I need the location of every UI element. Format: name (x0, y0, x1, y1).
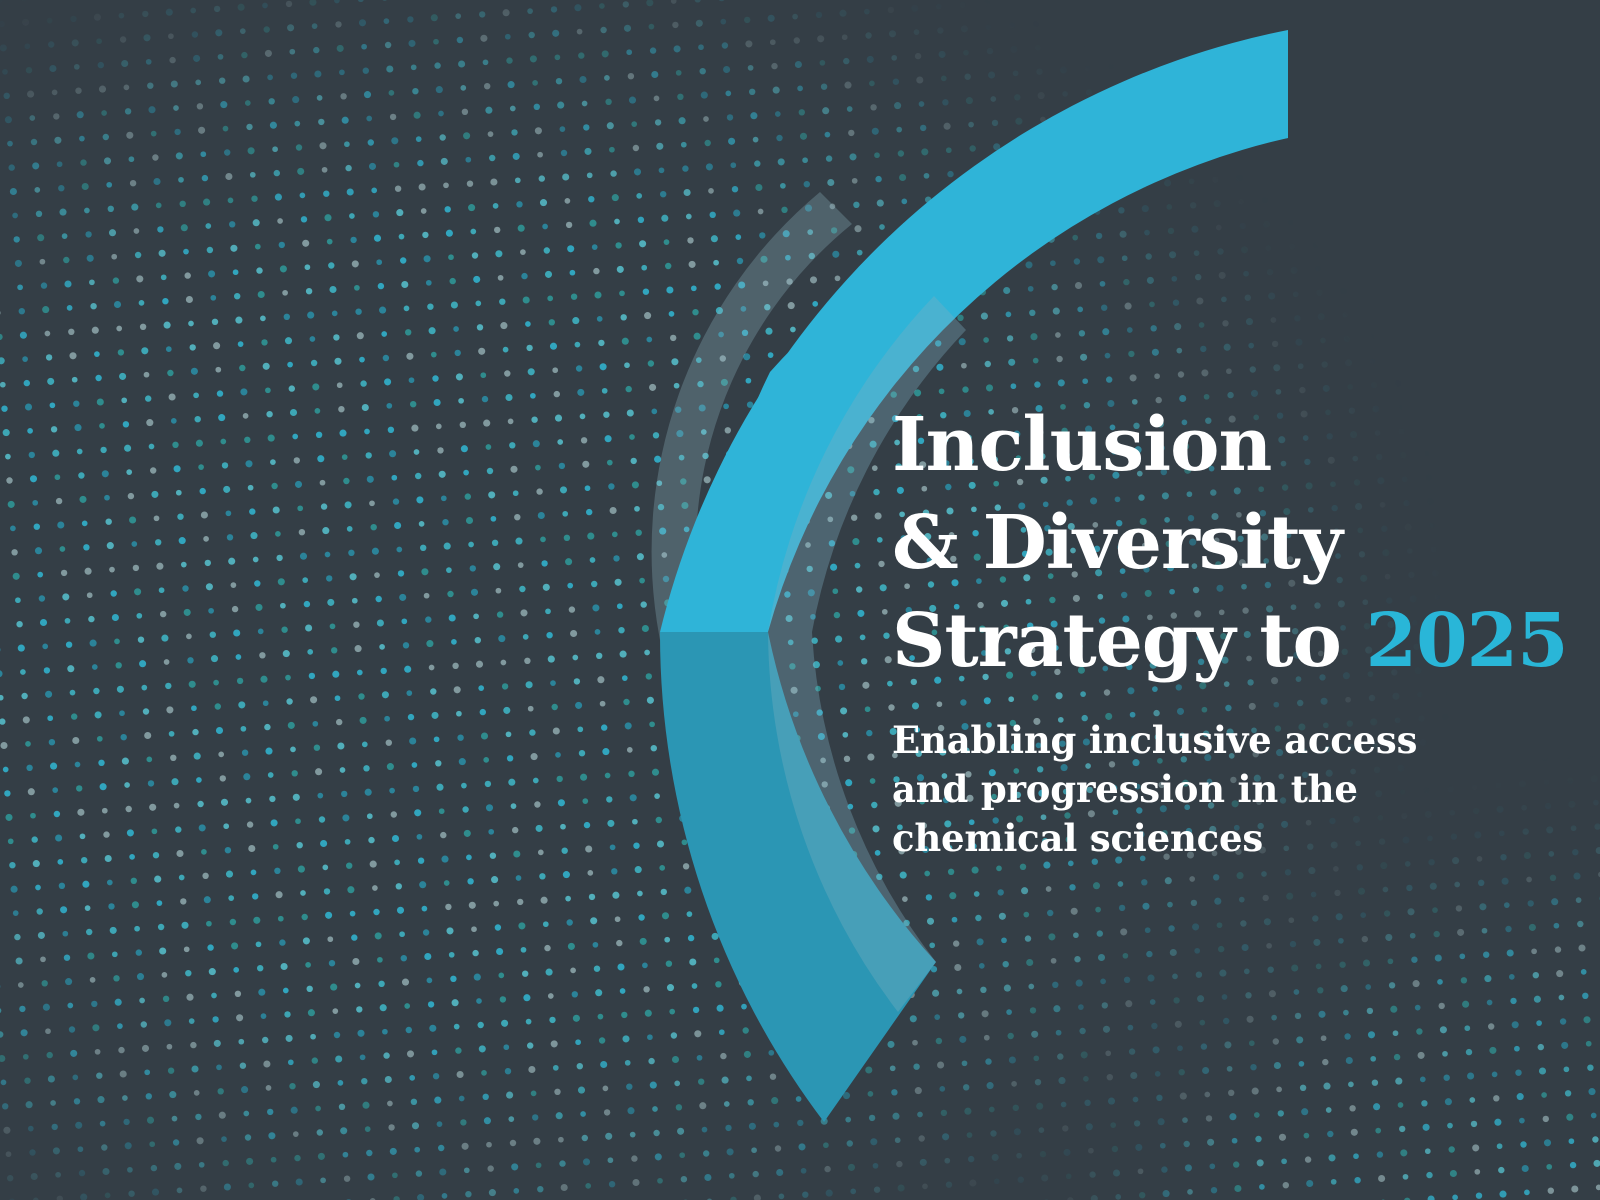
page-title-line-1: Inclusion (892, 396, 1552, 494)
subtitle-line-3: chemical sciences (892, 814, 1552, 863)
cover-text-block: Inclusion & Diversity Strategy to 2025 E… (892, 396, 1552, 863)
subtitle-line-2: and progression in the (892, 765, 1552, 814)
page-title-line-2: & Diversity (892, 494, 1552, 592)
cover-subtitle: Enabling inclusive access and progressio… (892, 716, 1552, 863)
page-title-line-3: Strategy to 2025 (892, 592, 1552, 690)
page-title-line-3-main: Strategy to (892, 598, 1366, 684)
page-title-year: 2025 (1366, 598, 1568, 684)
outer-translucent-arc (652, 192, 852, 640)
cover-page: Inclusion & Diversity Strategy to 2025 E… (0, 0, 1600, 1200)
subtitle-line-1: Enabling inclusive access (892, 716, 1552, 765)
